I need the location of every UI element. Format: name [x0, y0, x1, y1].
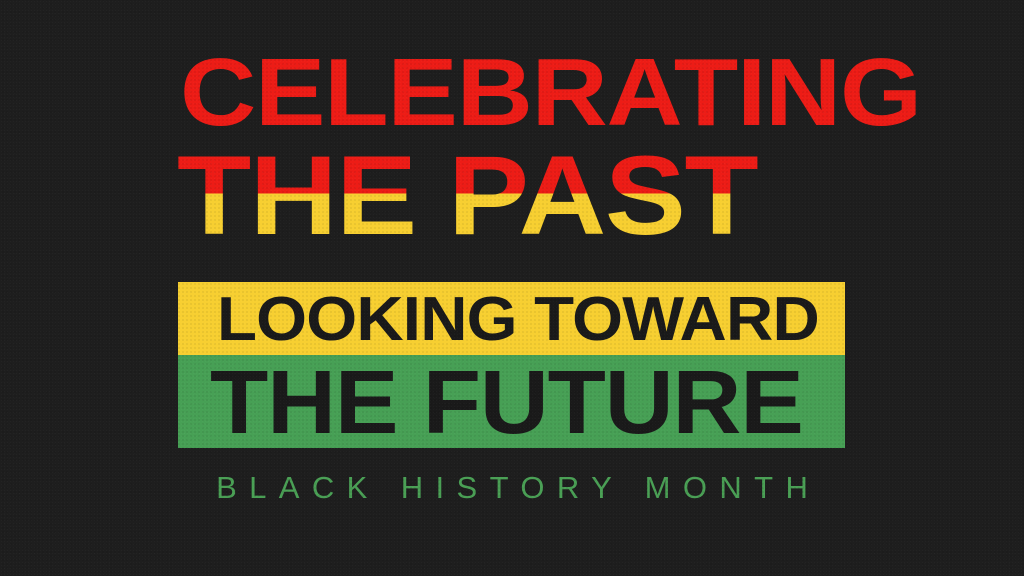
green-band-the-future: THE FUTURE: [178, 355, 845, 448]
yellow-band-looking-toward: LOOKING TOWARD: [178, 282, 845, 355]
tagline-black-history-month: BLACK HISTORY MONTH: [0, 470, 1024, 506]
black-history-month-poster: CELEBRATING THE PAST LOOKING TOWARD THE …: [0, 0, 1024, 576]
headline-line-celebrating: CELEBRATING: [180, 56, 921, 131]
band-text-looking-toward: LOOKING TOWARD: [217, 295, 819, 345]
headline-line-the-past: THE PAST: [177, 152, 757, 239]
band-text-the-future: THE FUTURE: [210, 367, 803, 439]
